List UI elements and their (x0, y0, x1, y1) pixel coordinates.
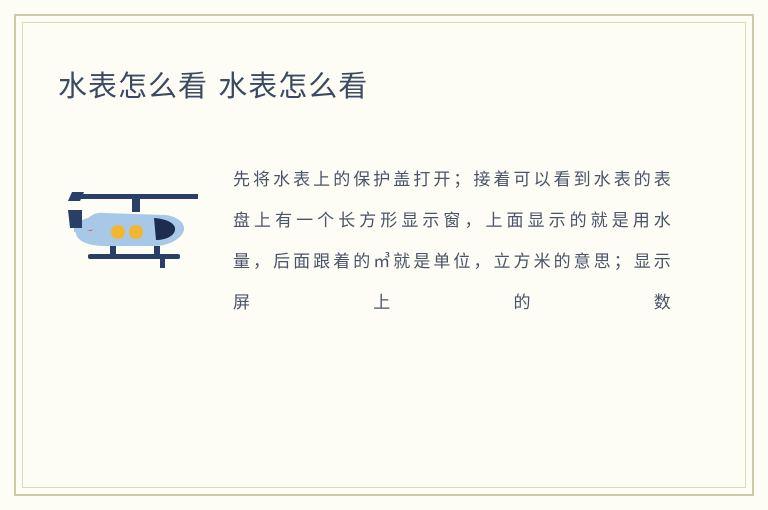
article-body: 先将水表上的保护盖打开；接着可以看到水表的表盘上有一个长方形显示窗，上面显示的就… (233, 160, 673, 324)
page-title: 水表怎么看 水表怎么看 (58, 66, 368, 106)
content-area: 先将水表上的保护盖打开；接着可以看到水表的表盘上有一个长方形显示窗，上面显示的就… (58, 160, 678, 420)
document-page: 水表怎么看 水表怎么看 (0, 0, 768, 510)
helicopter-illustration (58, 170, 228, 280)
